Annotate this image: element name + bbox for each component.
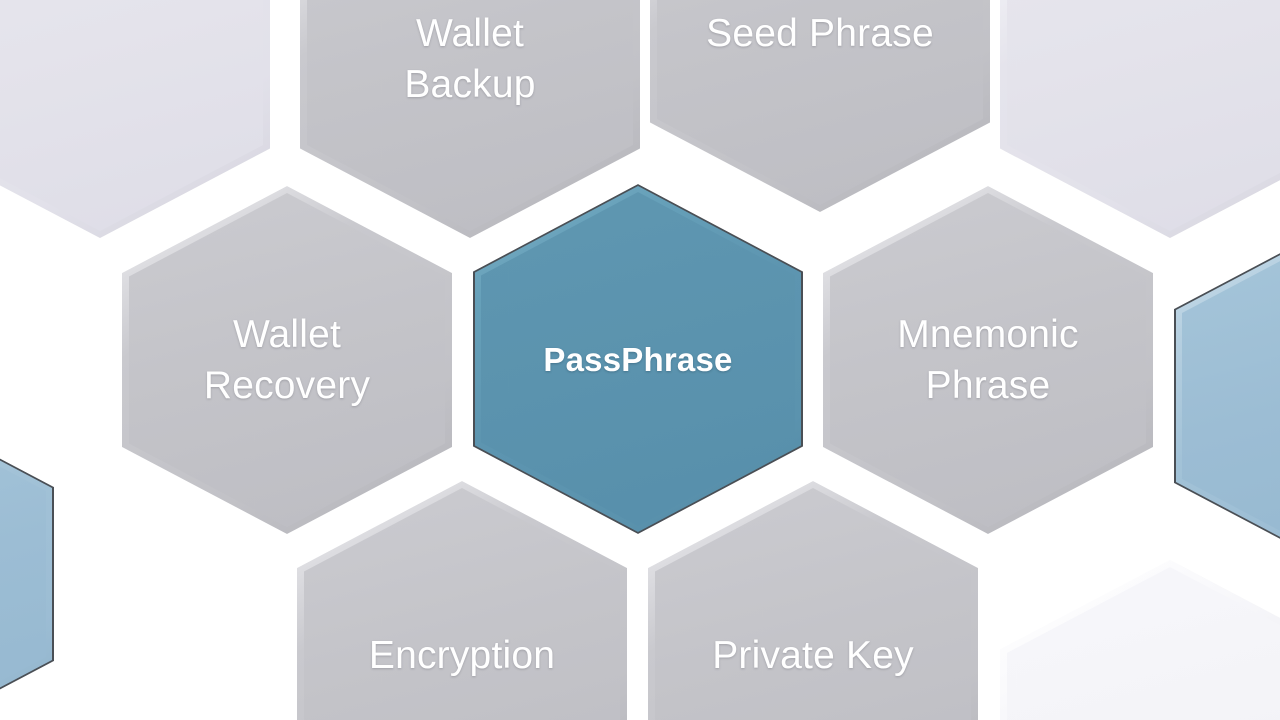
hexagon-outline — [0, 400, 54, 720]
hexagon-label: Wallet Recovery — [135, 309, 439, 411]
hexagon-wallet-recovery[interactable]: Wallet Recovery — [122, 186, 452, 534]
hexagon-encryption[interactable]: Encryption — [297, 481, 627, 720]
hexagon-face — [655, 488, 971, 720]
hexagon-right-edge-blue[interactable] — [1174, 222, 1280, 570]
hexagon-top-right-lavender[interactable] — [1000, 0, 1280, 238]
hexagon-bottom-right-white[interactable] — [1000, 560, 1280, 720]
hexagon-mnemonic-phrase[interactable]: Mnemonic Phrase — [823, 186, 1153, 534]
hexagon-face — [304, 488, 620, 720]
hexagon-top-left-lavender[interactable] — [0, 0, 270, 238]
hexagon-face — [1007, 567, 1280, 720]
hexagon-passphrase[interactable]: PassPhrase — [473, 184, 803, 534]
hexagon-seed-phrase[interactable]: Seed Phrase — [650, 0, 990, 212]
hexagon-face — [1007, 0, 1280, 231]
hexagon-outline — [1174, 222, 1280, 570]
hexagon-bevel — [1000, 0, 1280, 238]
hexagon-wallet-backup[interactable]: Wallet Backup — [300, 0, 640, 238]
hexagon-face — [0, 0, 263, 231]
hexagon-label: Mnemonic Phrase — [836, 309, 1140, 411]
hexagon-diagram-canvas: Wallet Backup Seed Phrase Wallet Recover… — [0, 0, 1280, 720]
hexagon-left-edge-blue[interactable] — [0, 400, 54, 720]
hexagon-bevel — [1000, 560, 1280, 720]
hexagon-label: Private Key — [661, 630, 965, 681]
hexagon-label: PassPhrase — [486, 334, 790, 385]
hexagon-bevel — [0, 0, 270, 238]
hexagon-label: Wallet Backup — [314, 8, 627, 110]
hexagon-bevel — [648, 481, 978, 720]
hexagon-bevel — [297, 481, 627, 720]
hexagon-label: Encryption — [310, 630, 614, 681]
hexagon-label: Seed Phrase — [664, 8, 977, 59]
hexagon-private-key[interactable]: Private Key — [648, 481, 978, 720]
